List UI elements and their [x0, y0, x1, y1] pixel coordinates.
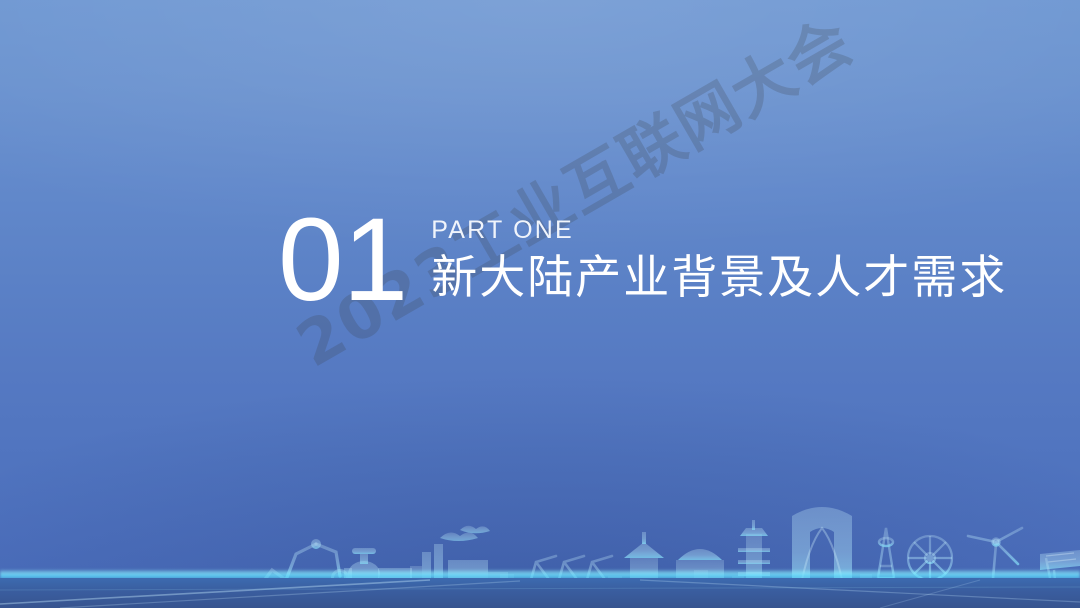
robotic-arm-base — [333, 571, 348, 586]
section-number: 01 — [278, 206, 407, 315]
page-title: 新大陆产业背景及人才需求 — [431, 252, 1007, 304]
pipe-valve-icon — [344, 548, 412, 587]
wind-turbine-icon — [968, 528, 1022, 590]
watermark-text: 2023工业互联网大会 — [278, 0, 867, 384]
section-label: PART ONE — [431, 218, 1007, 243]
industrial-plant-icon — [500, 574, 968, 590]
presentation-slide: 2023工业互联网大会 01 PART ONE 新大陆产业背景及人才需求 — [0, 0, 1080, 608]
pagoda-icon — [738, 520, 770, 590]
chinese-pavilion-icon — [624, 532, 664, 590]
solar-panel-icon — [1040, 550, 1080, 590]
road-surface — [0, 578, 1080, 608]
ferris-wheel-icon — [908, 536, 952, 590]
horizon-glow — [0, 569, 1080, 581]
robotic-arm-icon — [266, 544, 340, 586]
bridge-icon — [216, 582, 262, 588]
factory-smokestack-icon — [410, 526, 508, 590]
skyline-shapes — [216, 507, 1080, 590]
skyline-illustration — [0, 488, 1080, 608]
gate-of-the-orient-icon — [792, 507, 852, 590]
temple-hall-icon — [676, 549, 724, 590]
headline-text-group: PART ONE 新大陆产业背景及人才需求 — [431, 206, 1007, 304]
section-headline: 01 PART ONE 新大陆产业背景及人才需求 — [278, 206, 1007, 315]
robotic-arm-joint — [311, 539, 321, 549]
oil-pumpjack-icon — [528, 556, 612, 590]
road-lines — [0, 578, 1080, 608]
tv-tower-icon — [876, 514, 896, 590]
